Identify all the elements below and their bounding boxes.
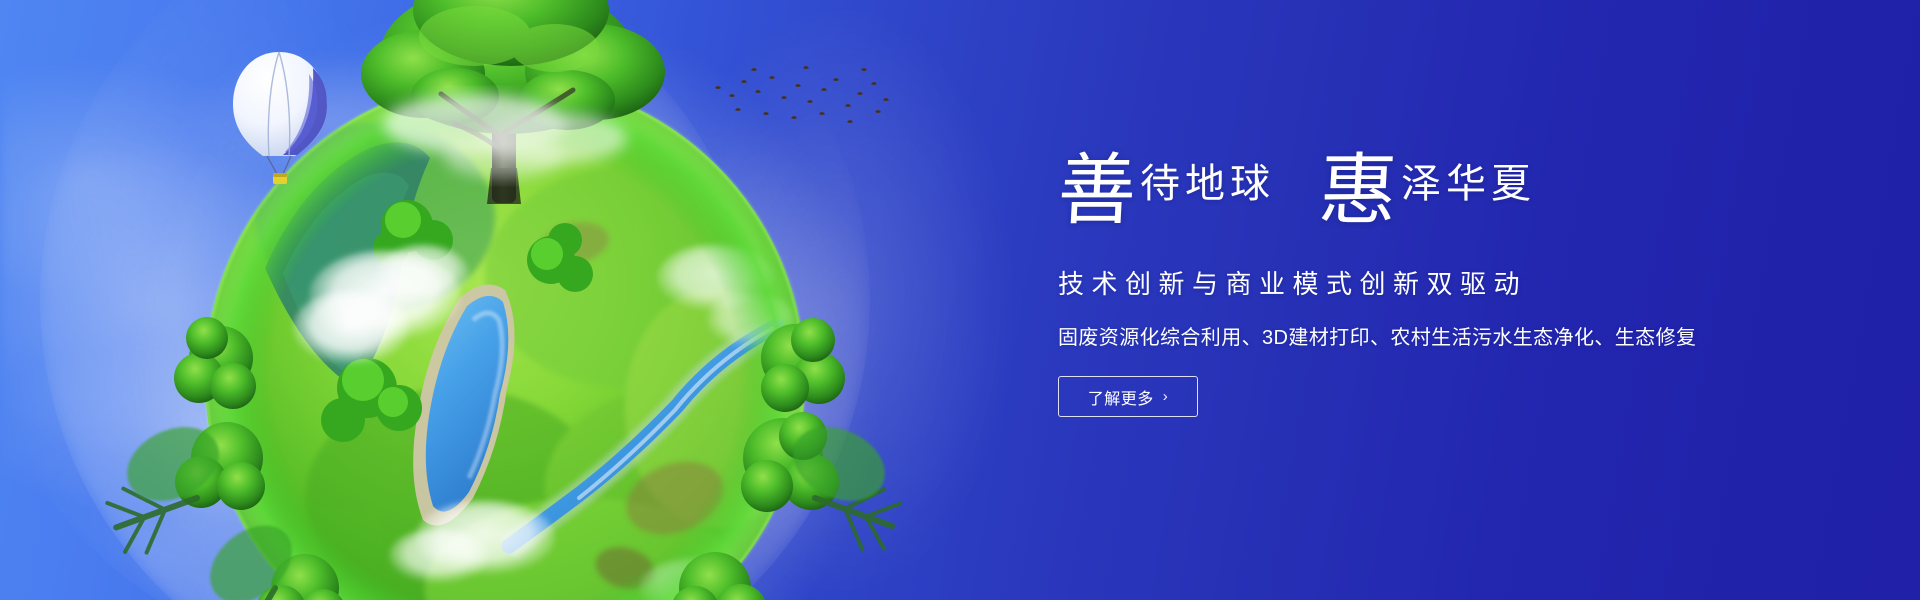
tiny-planet-earth-illustration (155, 28, 855, 600)
headline-rest-2: 泽华夏 (1401, 164, 1536, 204)
headline-calligraphy-2: 惠 (1317, 152, 1399, 230)
hero-banner: 善待地球惠泽华夏 技术创新与商业模式创新双驱动 固废资源化综合利用、3D建材打印… (0, 0, 1920, 600)
hot-air-balloon (217, 34, 367, 204)
hero-description: 固废资源化综合利用、3D建材打印、农村生活污水生态净化、生态修复 (1058, 321, 1758, 350)
hero-headline: 善待地球惠泽华夏 (1058, 152, 1758, 242)
hero-copy: 善待地球惠泽华夏 技术创新与商业模式创新双驱动 固废资源化综合利用、3D建材打印… (1058, 152, 1758, 417)
headline-rest-1: 待地球 (1140, 164, 1275, 204)
learn-more-label: 了解更多 (1088, 385, 1154, 409)
learn-more-button[interactable]: 了解更多 › (1058, 376, 1198, 417)
bird-flock (715, 66, 889, 123)
headline-calligraphy-1: 善 (1056, 152, 1138, 230)
hero-subtitle: 技术创新与商业模式创新双驱动 (1058, 264, 1758, 301)
chevron-right-icon: › (1163, 389, 1169, 404)
